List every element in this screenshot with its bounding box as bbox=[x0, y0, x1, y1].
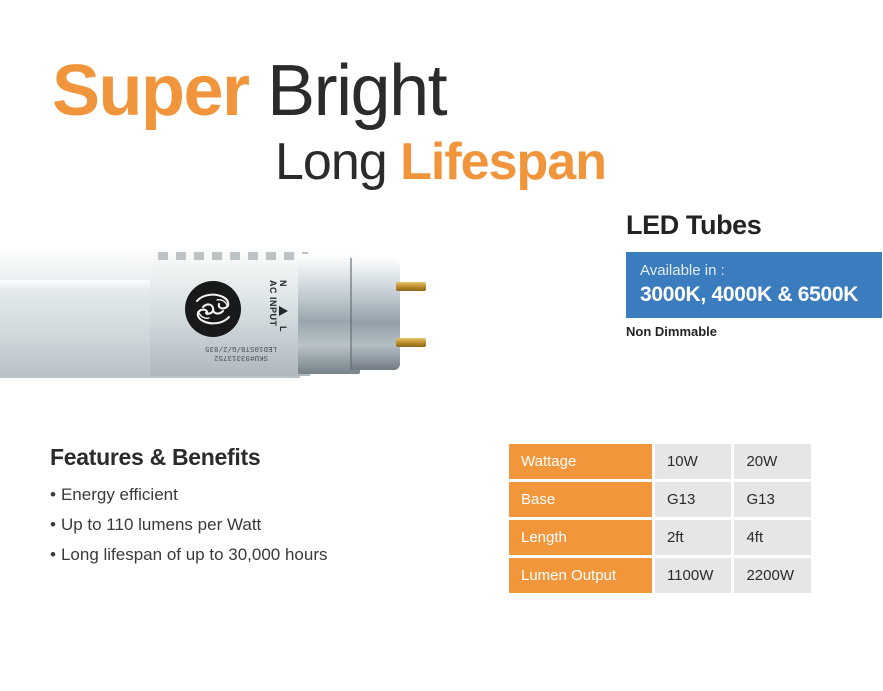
tube-sku-text: SKU#93313752 LED10ST8/G/2/835 bbox=[178, 343, 304, 361]
table-row: Length 2ft 4ft bbox=[509, 520, 811, 555]
spec-value-col1: G13 bbox=[655, 482, 732, 517]
spec-label: Wattage bbox=[509, 444, 652, 479]
headline-bright: Bright bbox=[267, 51, 446, 131]
led-tube-product-image: N AC INPUT L SKU#93313752 LED10ST8/G/2/8… bbox=[0, 238, 430, 388]
headline: Super Bright Long Lifespan bbox=[0, 52, 883, 192]
availability-box: Available in : 3000K, 4000K & 6500K bbox=[626, 252, 882, 318]
availability-label: Available in : bbox=[640, 260, 882, 281]
non-dimmable-note: Non Dimmable bbox=[626, 324, 717, 339]
spec-value-col2: 20W bbox=[734, 444, 811, 479]
features-section: Features & Benefits •Energy efficient •U… bbox=[50, 444, 470, 570]
tube-dash-marks bbox=[158, 252, 308, 260]
ge-monogram-logo-icon bbox=[185, 281, 241, 337]
marking-ac-input: AC INPUT bbox=[268, 280, 278, 327]
tube-pin-bottom bbox=[396, 338, 426, 347]
spec-label: Length bbox=[509, 520, 652, 555]
feature-item: •Long lifespan of up to 30,000 hours bbox=[50, 540, 470, 570]
table-row: Base G13 G13 bbox=[509, 482, 811, 517]
spec-value-col2: 4ft bbox=[734, 520, 811, 555]
headline-line-2: Long Lifespan bbox=[0, 132, 883, 192]
spec-value-col2: G13 bbox=[734, 482, 811, 517]
headline-long: Long bbox=[275, 133, 387, 191]
marking-l: L bbox=[278, 326, 288, 332]
headline-lifespan: Lifespan bbox=[400, 133, 606, 191]
bullet-icon: • bbox=[50, 515, 56, 534]
feature-text: Up to 110 lumens per Watt bbox=[61, 515, 261, 534]
spec-value-col2: 2200W bbox=[734, 558, 811, 593]
headline-line-1: Super Bright bbox=[0, 52, 883, 130]
tube-pin-top bbox=[396, 282, 426, 291]
table-row: Lumen Output 1100W 2200W bbox=[509, 558, 811, 593]
spec-value-col1: 1100W bbox=[655, 558, 732, 593]
spec-label: Lumen Output bbox=[509, 558, 652, 593]
led-tubes-title: LED Tubes bbox=[626, 210, 761, 241]
bullet-icon: • bbox=[50, 545, 56, 564]
bullet-icon: • bbox=[50, 485, 56, 504]
feature-text: Long lifespan of up to 30,000 hours bbox=[61, 545, 328, 564]
product-infographic-page: Super Bright Long Lifespan bbox=[0, 0, 883, 691]
spec-label: Base bbox=[509, 482, 652, 517]
availability-value: 3000K, 4000K & 6500K bbox=[640, 281, 882, 309]
feature-text: Energy efficient bbox=[61, 485, 178, 504]
arrow-icon bbox=[279, 306, 288, 316]
headline-super: Super bbox=[52, 51, 249, 131]
marking-n: N bbox=[278, 280, 288, 287]
feature-item: •Up to 110 lumens per Watt bbox=[50, 510, 470, 540]
features-title: Features & Benefits bbox=[50, 444, 470, 471]
table-row: Wattage 10W 20W bbox=[509, 444, 811, 479]
spec-value-col1: 2ft bbox=[655, 520, 732, 555]
spec-value-col1: 10W bbox=[655, 444, 732, 479]
specification-table: Wattage 10W 20W Base G13 G13 Length 2ft … bbox=[506, 441, 814, 596]
feature-item: •Energy efficient bbox=[50, 480, 470, 510]
tube-cap-ring bbox=[352, 258, 400, 370]
